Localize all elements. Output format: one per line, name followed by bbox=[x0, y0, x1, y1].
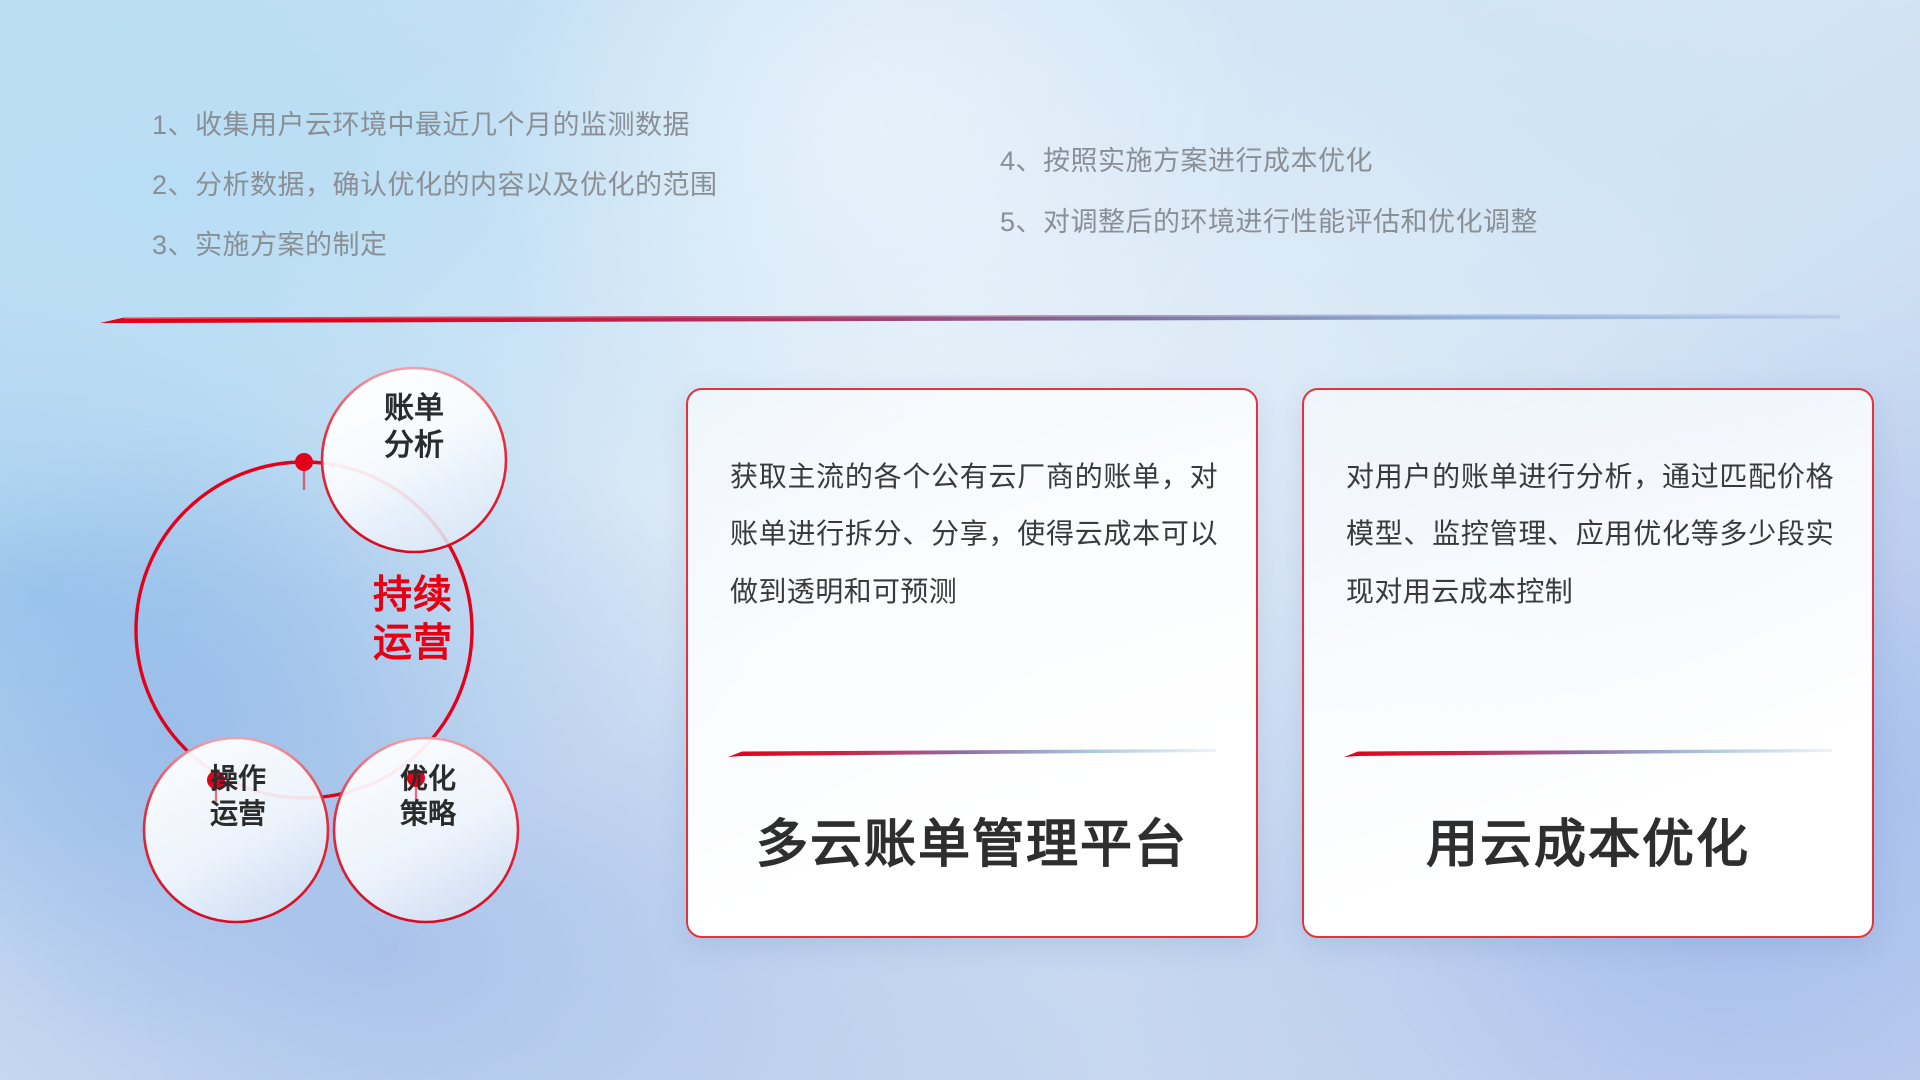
diagram-node-label-bottom-left: 操作 运营 bbox=[158, 762, 318, 831]
card-accent-rule bbox=[1344, 746, 1832, 757]
card-description: 对用户的账单进行分析，通过匹配价格模型、监控管理、应用优化等多少段实现对用云成本… bbox=[1346, 448, 1834, 620]
card-title: 用云成本优化 bbox=[1304, 802, 1872, 877]
process-step-4: 4、按照实施方案进行成本优化 bbox=[1000, 148, 1538, 175]
card-description: 获取主流的各个公有云厂商的账单，对账单进行拆分、分享，使得云成本可以做到透明和可… bbox=[730, 448, 1218, 620]
process-step-3: 3、实施方案的制定 bbox=[152, 232, 718, 259]
continuous-operation-diagram: 账单 分析 持续 运营 操作 运营 优化 策略 bbox=[96, 340, 616, 940]
diagram-node-label-top: 账单 分析 bbox=[334, 390, 494, 464]
process-step-5: 5、对调整后的环境进行性能评估和优化调整 bbox=[1000, 209, 1538, 236]
process-step-2: 2、分析数据，确认优化的内容以及优化的范围 bbox=[152, 172, 718, 199]
card-title: 多云账单管理平台 bbox=[688, 802, 1256, 877]
process-step-1: 1、收集用户云环境中最近几个月的监测数据 bbox=[152, 112, 718, 139]
card-body: 对用户的账单进行分析，通过匹配价格模型、监控管理、应用优化等多少段实现对用云成本… bbox=[1346, 448, 1834, 620]
info-card-multi-cloud-bill-platform[interactable]: 获取主流的各个公有云厂商的账单，对账单进行拆分、分享，使得云成本可以做到透明和可… bbox=[686, 388, 1258, 938]
info-card-cloud-cost-optimization[interactable]: 对用户的账单进行分析，通过匹配价格模型、监控管理、应用优化等多少段实现对用云成本… bbox=[1302, 388, 1874, 938]
card-body: 获取主流的各个公有云厂商的账单，对账单进行拆分、分享，使得云成本可以做到透明和可… bbox=[730, 448, 1218, 620]
card-accent-rule bbox=[728, 746, 1216, 757]
process-steps-right-column: 4、按照实施方案进行成本优化 5、对调整后的环境进行性能评估和优化调整 bbox=[1000, 148, 1538, 270]
diagram-node-label-bottom-right: 优化 策略 bbox=[348, 762, 508, 831]
process-steps-left-column: 1、收集用户云环境中最近几个月的监测数据 2、分析数据，确认优化的内容以及优化的… bbox=[152, 112, 718, 292]
section-divider bbox=[100, 312, 1840, 326]
diagram-center-label: 持续 运营 bbox=[328, 572, 498, 669]
